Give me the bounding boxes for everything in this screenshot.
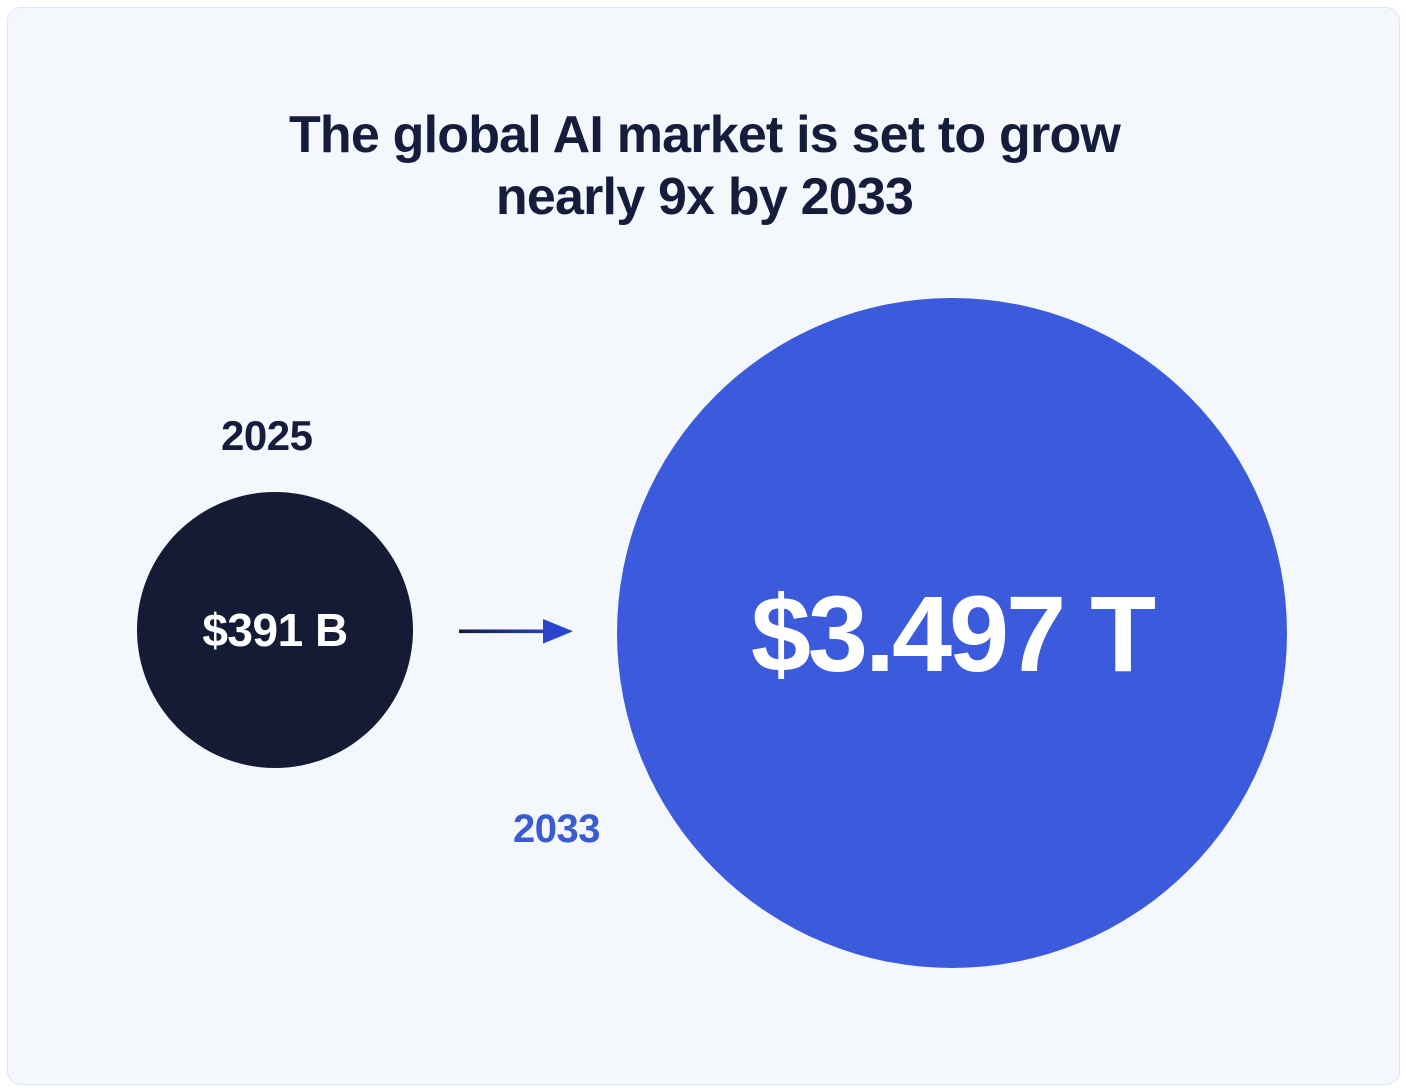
year-label-2033: 2033 <box>513 807 600 852</box>
infographic-card: The global AI market is set to grow near… <box>7 7 1400 1085</box>
bubble-2033: $3.497 T <box>617 298 1287 968</box>
title-line-1: The global AI market is set to grow <box>8 104 1400 166</box>
bubble-2033-value: $3.497 T <box>751 571 1153 696</box>
title-line-2: nearly 9x by 2033 <box>8 166 1400 228</box>
growth-arrow-icon <box>451 606 581 658</box>
bubble-2025-value: $391 B <box>202 603 347 657</box>
bubble-2025: $391 B <box>137 492 413 768</box>
year-label-2025: 2025 <box>221 412 312 460</box>
page-title: The global AI market is set to grow near… <box>8 104 1400 228</box>
